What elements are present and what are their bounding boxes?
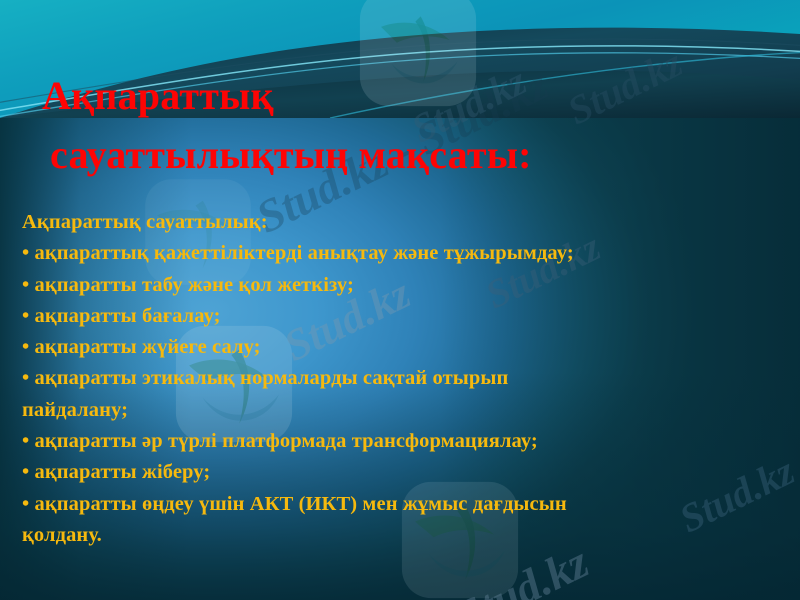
bullet-item: • ақпаратты өңдеу үшін АКТ (ИКТ) мен жұм… xyxy=(22,489,778,552)
bullet-item: • ақпаратты бағалау; xyxy=(22,301,778,332)
bullet-item: • ақпаратты жіберу; xyxy=(22,457,778,488)
bullet-item: • ақпаратты әр түрлі платформада трансфо… xyxy=(22,426,778,457)
slide-title-line-2: сауаттылықтың мақсаты: xyxy=(50,125,762,184)
slide-title-line-1: Ақпараттық xyxy=(42,66,762,125)
presentation-slide: Stud.kz - Stud.kz Stud.kz Stud.kz Stud.k… xyxy=(0,0,800,600)
bullet-item: • ақпаратты этикалық нормаларды сақтай о… xyxy=(22,363,778,426)
slide-title: Ақпараттық сауаттылықтың мақсаты: xyxy=(42,66,762,184)
slide-body: Ақпараттық сауаттылық: • ақпараттық қаже… xyxy=(22,207,778,551)
body-intro: Ақпараттық сауаттылық: xyxy=(22,207,778,238)
bullet-item: • ақпаратты табу және қол жеткізу; xyxy=(22,270,778,301)
bullet-item: • ақпаратты жүйеге салу; xyxy=(22,332,778,363)
bullet-item: • ақпараттық қажеттіліктерді анықтау жән… xyxy=(22,238,778,269)
